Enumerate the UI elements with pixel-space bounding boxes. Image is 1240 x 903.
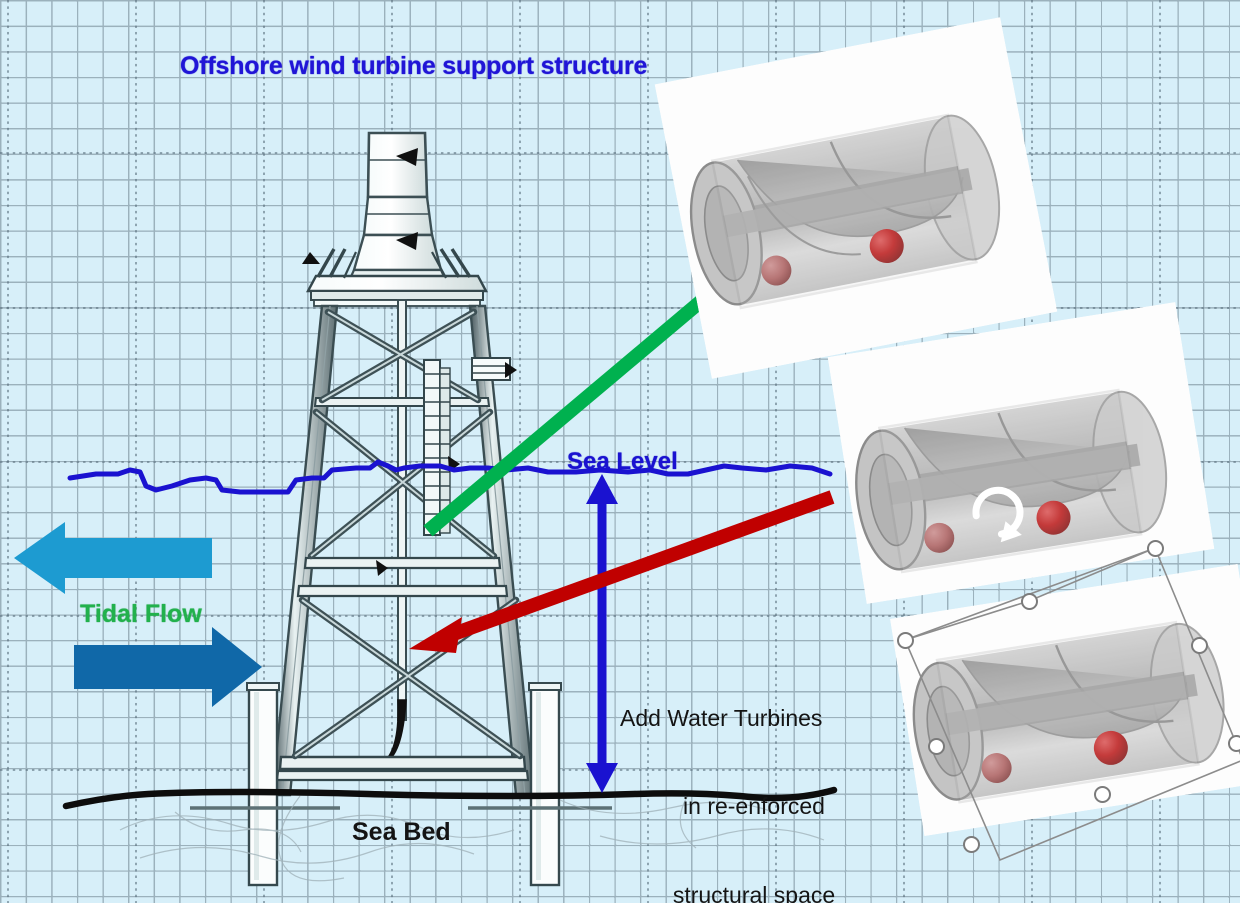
- sea-bed-label: Sea Bed: [352, 818, 451, 847]
- callout-line-1: Add Water Turbines: [620, 704, 888, 733]
- tidal-flow-label: Tidal Flow: [80, 600, 202, 629]
- callout-line-2: in re-enforced: [620, 792, 888, 821]
- selection-handle-se[interactable]: [1228, 735, 1240, 752]
- selection-handle-sw[interactable]: [963, 836, 980, 853]
- selection-handle-e[interactable]: [1191, 637, 1208, 654]
- selection-handle-w[interactable]: [928, 738, 945, 755]
- selection-handle-ne[interactable]: [1147, 540, 1164, 557]
- selection-handle-nw[interactable]: [897, 632, 914, 649]
- selection-handle-n[interactable]: [1021, 593, 1038, 610]
- page-title: Offshore wind turbine support structure: [180, 52, 647, 81]
- callout-line-3: structural space: [620, 881, 888, 903]
- drawing-canvas[interactable]: Offshore wind turbine support structure …: [0, 0, 1240, 903]
- sea-level-label: Sea Level: [567, 448, 678, 476]
- selection-handle-s[interactable]: [1094, 786, 1111, 803]
- callout-text: Add Water Turbines in re-enforced struct…: [620, 645, 888, 903]
